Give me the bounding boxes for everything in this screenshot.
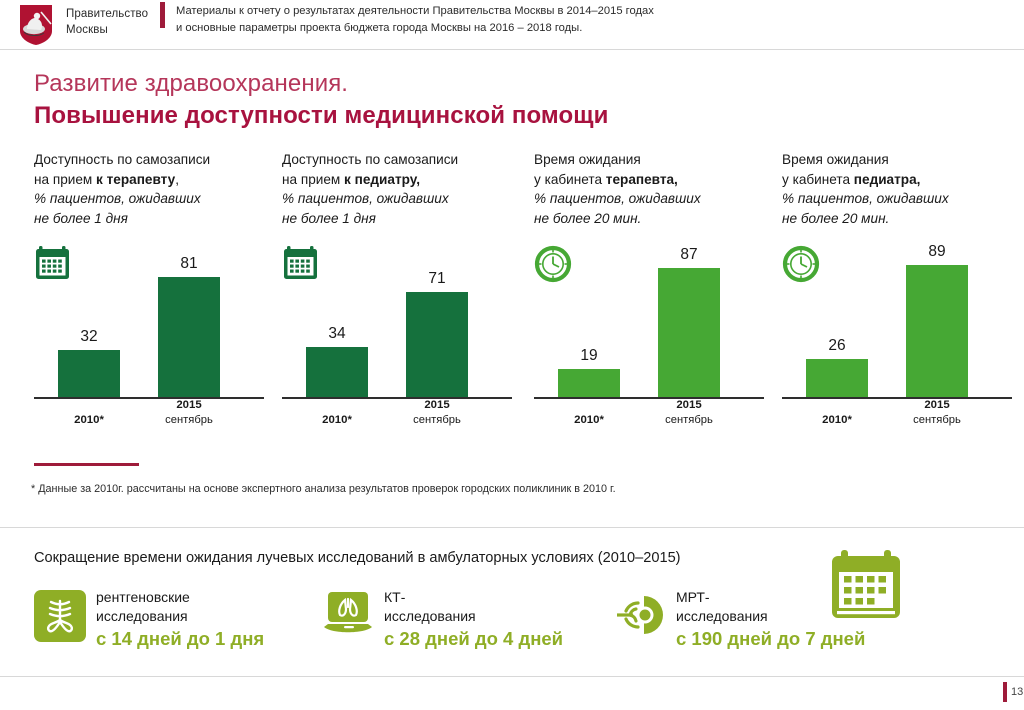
chart-heading: Доступность по самозаписи на прием к пед…	[282, 150, 530, 228]
chart-heading: Время ожидания у кабинета терапевта, % п…	[534, 150, 782, 228]
x-tick-2010: 2010*	[806, 413, 868, 428]
bottom-band-top-divider	[0, 527, 1024, 528]
x-tick-year: 2010*	[806, 413, 868, 428]
footnote-divider	[34, 463, 139, 466]
slide-page: Правительство Москвы Материалы к отчету …	[0, 0, 1024, 710]
bar-value-label: 32	[58, 328, 120, 346]
chart-heading-line2-bold: к терапевту	[96, 172, 175, 187]
chart-heading-line3: % пациентов, ожидавших	[782, 189, 1024, 209]
bottom-band-title: Сокращение времени ожидания лучевых иссл…	[34, 548, 681, 568]
chart-heading-line3: % пациентов, ожидавших	[282, 189, 530, 209]
header-divider	[0, 49, 1024, 50]
chart-heading-line4: не более 1 дня	[282, 209, 530, 229]
x-tick-year: 2015	[906, 398, 968, 413]
bar-2010	[558, 369, 620, 397]
chart-heading-line1: Доступность по самозаписи	[34, 150, 282, 170]
header-note-line2: и основные параметры проекта бюджета гор…	[176, 20, 876, 37]
modality-value: с 190 дней до 7 дней	[676, 626, 906, 651]
bar-2010	[306, 347, 368, 398]
modality-name-line1: рентгеновские	[96, 588, 326, 607]
chart-column-therapist-selfbooking: Доступность по самозаписи на прием к тер…	[34, 150, 282, 460]
modality-name-line2: исследования	[384, 607, 614, 626]
x-tick-2010: 2010*	[306, 413, 368, 428]
chart-heading-line2-bold: педиатра,	[854, 172, 921, 187]
government-label-line1: Правительство	[66, 6, 148, 22]
header-note: Материалы к отчету о результатах деятель…	[176, 3, 876, 36]
modality-value: с 28 дней до 4 дней	[384, 626, 614, 651]
chart-heading-line3: % пациентов, ожидавших	[534, 189, 782, 209]
x-tick-2010: 2010*	[558, 413, 620, 428]
chart-heading-line1: Доступность по самозаписи	[282, 150, 530, 170]
header-accent-bar	[160, 2, 165, 28]
chart-column-pediatrician-selfbooking: Доступность по самозаписи на прием к пед…	[282, 150, 530, 460]
chart-heading-line2: у кабинета педиатра,	[782, 170, 1024, 190]
xray-icon	[34, 590, 86, 642]
bottom-band-bottom-divider	[0, 676, 1024, 677]
charts-band: Доступность по самозаписи на прием к тер…	[0, 150, 1024, 460]
chart-axis-line	[782, 397, 1012, 399]
page-number-accent-bar	[1003, 682, 1007, 702]
chart-heading-line2-plain: на прием	[34, 172, 96, 187]
footnote-text: * Данные за 2010г. рассчитаны на основе …	[31, 482, 616, 496]
bar-2015	[406, 292, 468, 398]
chart-heading-line2-bold: к педиатру,	[344, 172, 420, 187]
bar-value-label: 87	[658, 246, 720, 264]
x-tick-month: сентябрь	[406, 413, 468, 428]
chart-column-therapist-waiting: Время ожидания у кабинета терапевта, % п…	[534, 150, 782, 460]
chart-heading: Доступность по самозаписи на прием к тер…	[34, 150, 282, 228]
x-tick-2015: 2015 сентябрь	[906, 398, 968, 427]
bar-value-label: 26	[806, 337, 868, 355]
chart-heading-line2-plain: у кабинета	[782, 172, 854, 187]
x-tick-month: сентябрь	[158, 413, 220, 428]
government-label: Правительство Москвы	[66, 6, 148, 38]
chart-heading-line2: у кабинета терапевта,	[534, 170, 782, 190]
header-note-line1: Материалы к отчету о результатах деятель…	[176, 3, 876, 20]
chart-heading-line1: Время ожидания	[782, 150, 1024, 170]
bar-value-label: 89	[906, 243, 968, 261]
chart-heading-line2-plain: на прием	[282, 172, 344, 187]
chart-heading-line2: на прием к педиатру,	[282, 170, 530, 190]
page-number: 13	[1011, 686, 1023, 698]
chart-axis-line	[282, 397, 512, 399]
chart-heading-line2-bold: терапевта,	[606, 172, 678, 187]
modality-value: с 14 дней до 1 дня	[96, 626, 326, 651]
calendar-icon	[828, 548, 906, 626]
x-tick-2015: 2015 сентябрь	[658, 398, 720, 427]
x-tick-year: 2015	[158, 398, 220, 413]
modality-name-line2: исследования	[96, 607, 326, 626]
chart-axis-line	[534, 397, 764, 399]
bar-2015	[158, 277, 220, 398]
chart-heading: Время ожидания у кабинета педиатра, % па…	[782, 150, 1024, 228]
x-tick-month: сентябрь	[658, 413, 720, 428]
chart-column-pediatrician-waiting: Время ожидания у кабинета педиатра, % па…	[782, 150, 1024, 460]
bar-2015	[658, 268, 720, 398]
chart-heading-line2: на прием к терапевту,	[34, 170, 282, 190]
government-label-line2: Москвы	[66, 22, 148, 38]
x-tick-2015: 2015 сентябрь	[158, 398, 220, 427]
chart-heading-line4: не более 20 мин.	[534, 209, 782, 229]
x-tick-2010: 2010*	[58, 413, 120, 428]
chart-heading-line4: не более 1 дня	[34, 209, 282, 229]
modality-text: рентгеновские исследования с 14 дней до …	[96, 588, 326, 651]
page-title-line2: Повышение доступности медицинской помощи	[34, 102, 608, 130]
chart-axis-line	[34, 397, 264, 399]
slide-header: Правительство Москвы Материалы к отчету …	[0, 0, 1024, 50]
moscow-coat-of-arms-icon	[14, 3, 58, 47]
x-tick-year: 2015	[406, 398, 468, 413]
bar-value-label: 81	[158, 255, 220, 273]
x-tick-month: сентябрь	[906, 413, 968, 428]
modality-name-line1: КТ-	[384, 588, 614, 607]
bar-chart: 19 87 2010* 2015 сентябрь	[534, 250, 764, 435]
x-tick-year: 2010*	[306, 413, 368, 428]
bar-value-label: 71	[406, 270, 468, 288]
x-tick-year: 2010*	[558, 413, 620, 428]
bar-chart: 26 89 2010* 2015 сентябрь	[782, 250, 1012, 435]
chart-heading-line4: не более 20 мин.	[782, 209, 1024, 229]
x-tick-year: 2010*	[58, 413, 120, 428]
ct-scan-icon	[322, 590, 374, 642]
bar-chart: 34 71 2010* 2015 сентябрь	[282, 250, 512, 435]
x-tick-year: 2015	[658, 398, 720, 413]
chart-heading-line1: Время ожидания	[534, 150, 782, 170]
bar-2015	[906, 265, 968, 398]
chart-heading-line2-plain: у кабинета	[534, 172, 606, 187]
chart-heading-line3: % пациентов, ожидавших	[34, 189, 282, 209]
modality-text: КТ- исследования с 28 дней до 4 дней	[384, 588, 614, 651]
bar-2010	[58, 350, 120, 398]
bar-value-label: 19	[558, 347, 620, 365]
bar-value-label: 34	[306, 325, 368, 343]
x-tick-2015: 2015 сентябрь	[406, 398, 468, 427]
page-title-line1: Развитие здравоохранения.	[34, 70, 348, 98]
bar-2010	[806, 359, 868, 398]
bar-chart: 32 81 2010* 2015 сентябрь	[34, 250, 264, 435]
mri-icon	[614, 590, 666, 642]
chart-heading-line2-tail: ,	[175, 172, 179, 187]
